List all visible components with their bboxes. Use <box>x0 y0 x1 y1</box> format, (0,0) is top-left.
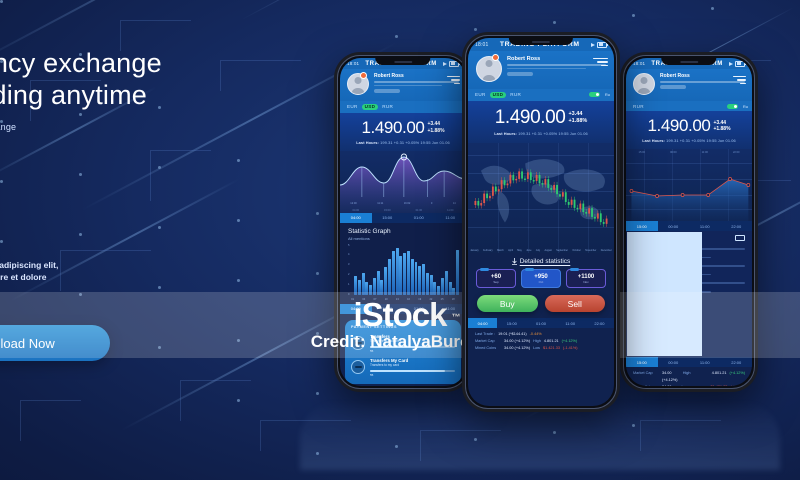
menu-icon[interactable] <box>593 58 608 68</box>
bar <box>452 288 455 295</box>
user-tag <box>374 89 400 93</box>
last-hours-label: Last Hours: <box>642 138 665 143</box>
payment-row-name: Transfers <box>370 334 455 339</box>
bar <box>449 282 452 295</box>
stat-key2: Low <box>533 345 540 352</box>
time-tab[interactable]: 15:00 <box>626 357 658 367</box>
statistic-graph-subtitle: All mentions <box>340 235 466 244</box>
language-label: Ru <box>605 92 610 97</box>
stat-key: Market Cap <box>475 338 501 345</box>
card-pill <box>525 268 534 271</box>
y-tick: 3 <box>348 263 349 266</box>
month-tick: May <box>517 249 522 252</box>
time-axis-bar-top[interactable]: 04:00 15:00 01:00 11:00 <box>340 213 466 223</box>
signal-icon <box>591 43 595 47</box>
stat-value: 34.00 (+4.12%) <box>662 384 679 386</box>
time-label: 22:00 <box>733 151 740 154</box>
time-tab[interactable]: 01:00 <box>403 304 435 314</box>
payment-row-value: 55 <box>370 349 455 353</box>
stat-change: (-1.41%) <box>563 345 578 352</box>
market-stats: Last Trade : 19:01 (^$144.41) -0.44% Mar… <box>468 328 614 352</box>
notch <box>661 58 716 65</box>
y-tick: 2 <box>348 273 349 276</box>
time-tab[interactable]: 11:00 <box>689 357 721 367</box>
stat-card-value: +1100 <box>569 274 603 280</box>
bar <box>441 278 444 295</box>
rate-line-chart: 15:00 00:00 11:00 22:00 <box>626 149 752 221</box>
stat-change: (+4.12%) <box>729 370 745 377</box>
phone-right-screen: 18:01 TRADING PLATFORM Robert Ross <box>626 58 752 386</box>
poster-canvas: urrency exchange , trading anytime ons f… <box>0 0 800 480</box>
statistic-bar-chart: 543210 01040710131619222528 <box>347 244 459 302</box>
status-icons <box>729 61 745 67</box>
wave-label: 0 <box>431 202 432 205</box>
user-name: Robert Ross <box>507 56 606 62</box>
bar <box>369 285 372 295</box>
time-tab[interactable]: 01:00 <box>403 213 435 223</box>
stat-value2: $1.421.33 <box>711 384 728 386</box>
stat-value: 34.00 (+4.12%) <box>662 370 680 384</box>
month-tick: October <box>572 249 581 252</box>
hero-headline-line2: , trading anytime <box>0 80 274 110</box>
signal-icon <box>443 62 447 66</box>
hero-headline-line1: urrency exchange <box>0 48 274 78</box>
stat-value2: 4.801.21 <box>544 338 559 345</box>
x-tick: 25 <box>441 298 444 301</box>
stat-row: Market Cap 34.00 (+4.12%) High 4.801.21 … <box>475 338 607 345</box>
stat-card-sep[interactable]: +60 Sep <box>476 269 516 289</box>
card-icon <box>351 360 365 374</box>
status-icons <box>443 61 459 67</box>
user-bar: Robert Ross <box>468 51 614 89</box>
last-hours-value: 199.31 +0.31 +0.05% 19:55 Jun 01.06 <box>518 131 588 136</box>
wave-time-labels: 04:00 15:00 01:00 11:00 <box>340 209 466 212</box>
time-label: 01:00 <box>416 209 423 212</box>
bar <box>415 262 418 294</box>
notch <box>375 58 430 65</box>
time-tab[interactable]: 04:00 <box>340 213 372 223</box>
download-now-button[interactable]: nload Now <box>0 325 110 361</box>
stat-value2: 4.801.21 <box>712 370 727 377</box>
wave-point-labels: 12:00 11:11 16:02 0 14 <box>340 202 466 205</box>
bar <box>384 267 387 294</box>
payment-row-name: Transfers My Card <box>370 358 455 363</box>
stat-value2: $1.421.33 <box>543 345 560 352</box>
time-tab[interactable]: 15:00 <box>626 221 658 231</box>
bar <box>407 251 410 295</box>
menu-icon[interactable] <box>733 76 746 86</box>
stat-card-value: +60 <box>479 274 513 280</box>
x-tick: 16 <box>407 298 410 301</box>
phone-left-bezel: 18:01 TRADING PLATFORM Robert Ross <box>337 55 469 389</box>
stat-key: Mined Coins <box>475 345 501 352</box>
currency-option-usd[interactable]: USD <box>490 92 507 99</box>
month-labels: JanuaryFebruaryMarchAprilMayJuneJulyAugu… <box>468 249 614 252</box>
stat-card-nov[interactable]: +1100 Nov <box>566 269 606 289</box>
y-tick: 0 <box>348 293 349 296</box>
notification-badge <box>492 54 499 61</box>
x-tick: 22 <box>429 298 432 301</box>
bar <box>437 286 440 295</box>
menu-icon[interactable] <box>447 76 460 86</box>
time-axis-bar-bottom[interactable]: 04:00 15:00 01:00 11:00 <box>340 304 466 314</box>
phone-right-bezel: 18:01 TRADING PLATFORM Robert Ross <box>623 55 755 389</box>
detail-list-panel: ph <box>626 231 752 357</box>
time-tab[interactable]: 22:00 <box>721 357 753 367</box>
currency-selector[interactable]: RUR Ru <box>626 101 752 111</box>
stat-change: -0.44% <box>530 331 542 338</box>
currency-option-eur[interactable]: EUR <box>475 92 486 97</box>
time-tab[interactable]: 11:00 <box>556 318 585 328</box>
bar <box>365 282 368 295</box>
time-tab[interactable]: 00:00 <box>658 221 690 231</box>
battery-icon <box>735 61 745 67</box>
hero-copy: urrency exchange , trading anytime ons f… <box>0 48 274 283</box>
battery-icon <box>735 235 745 241</box>
price-delta-pct: +1.88% <box>427 128 444 135</box>
card-pill <box>570 268 579 271</box>
wave-label: 11:11 <box>377 202 383 205</box>
time-label: 11:00 <box>702 151 708 154</box>
y-tick: 1 <box>348 283 349 286</box>
x-tick: 01 <box>351 298 354 301</box>
last-hours-value: 199.31 +0.31 +0.05% 19:55 Jun 01.06 <box>380 140 450 145</box>
payment-settings-title: PAYMENT SETTINGS <box>351 325 455 329</box>
time-axis-bar-bottom[interactable]: 15:00 00:00 11:00 22:00 <box>626 357 752 367</box>
month-tick: June <box>526 249 531 252</box>
time-axis-bar-top[interactable]: 15:00 00:00 11:00 22:00 <box>626 221 752 231</box>
x-tick: 07 <box>374 298 377 301</box>
payment-row-sub: Transfers to account <box>370 339 455 343</box>
stat-key: Market Cap <box>633 370 659 377</box>
stat-change: (+4.12%) <box>562 338 578 345</box>
currency-selector[interactable]: EUR USD RUR <box>340 101 466 113</box>
price-value: 1.490.00 <box>495 107 566 129</box>
sell-button[interactable]: Sell <box>545 295 606 312</box>
battery-icon <box>597 42 607 48</box>
price-panel: 1.490.00 +3.44 +1.88% Last Hours: 199.31… <box>340 113 466 151</box>
x-tick: 13 <box>396 298 399 301</box>
wave-label: 14 <box>453 202 456 205</box>
payment-row-transfers-my-card[interactable]: Transfers My Card Transfers to my card 5… <box>351 358 455 377</box>
bar <box>388 259 391 294</box>
month-tick: July <box>536 249 540 252</box>
user-meta-line <box>507 68 586 70</box>
stat-card-month: Oct <box>524 280 558 284</box>
stat-row: Last Trade : 19:01 (^$144.41) -0.44% <box>475 331 607 338</box>
phone-center: 18:01 TRADING PLATFORM Robert Ross <box>462 32 620 412</box>
currency-option-rur[interactable]: RUR <box>633 104 644 109</box>
time-axis-bar[interactable]: 04:00 15:00 01:00 11:00 22:00 <box>468 318 614 328</box>
x-tick: 19 <box>418 298 421 301</box>
time-tab[interactable]: 01:00 <box>526 318 555 328</box>
hero-heading2: I/UX <box>0 192 274 218</box>
payment-settings-panel: PAYMENT SETTINGS Transfers Transfers to … <box>345 320 461 384</box>
wave-chart: 12:00 11:11 16:02 0 14 04:00 15:00 01:00… <box>340 151 466 213</box>
payment-row-transfers[interactable]: Transfers Transfers to account 55 <box>351 334 455 353</box>
buy-button[interactable]: Buy <box>477 295 538 312</box>
bar <box>358 280 361 295</box>
price-value: 1.490.00 <box>647 116 710 136</box>
y-tick: 4 <box>348 253 349 256</box>
currency-option-rur[interactable]: RUR <box>510 92 521 97</box>
time-label: 11:00 <box>447 209 453 212</box>
time-label: 15:00 <box>639 151 646 154</box>
candlestick-chart: JanuaryFebruaryMarchAprilMayJuneJulyAugu… <box>468 143 614 253</box>
phone-center-bezel: 18:01 TRADING PLATFORM Robert Ross <box>465 35 617 409</box>
bar <box>362 273 365 295</box>
market-stats: Market Cap 34.00 (+4.12%) High 4.801.21 … <box>626 367 752 386</box>
phone-right: 18:01 TRADING PLATFORM Robert Ross <box>620 52 758 392</box>
time-tab[interactable]: 15:00 <box>372 304 404 314</box>
download-arrow-icon <box>512 258 517 265</box>
avatar[interactable] <box>633 73 655 95</box>
stat-key: Last Trade : <box>475 331 495 338</box>
bar-chart-x-labels: 01040710131619222528 <box>347 298 459 301</box>
wave-label: 12:00 <box>350 202 357 205</box>
bar <box>445 271 448 295</box>
x-tick: 04 <box>362 298 365 301</box>
month-tick: January <box>470 249 479 252</box>
phone-left: 18:01 TRADING PLATFORM Robert Ross <box>334 52 472 392</box>
rate-chart-top-labels: 15:00 00:00 11:00 22:00 <box>626 151 752 154</box>
hero-subline: ons for exchange <box>0 122 274 132</box>
language-toggle[interactable] <box>727 104 738 109</box>
status-icons <box>591 42 607 48</box>
bar-chart-y-labels: 543210 <box>348 244 349 296</box>
wave-label: 16:02 <box>404 202 411 205</box>
user-meta-line <box>507 64 606 66</box>
avatar[interactable] <box>476 56 502 82</box>
payment-row-sub: Transfers to my card <box>370 363 455 367</box>
time-tab[interactable]: 04:00 <box>340 304 372 314</box>
month-tick: August <box>544 249 551 252</box>
status-time: 18:01 <box>633 61 645 66</box>
detailed-statistics-header[interactable]: Detailed statistics <box>468 253 614 269</box>
hero-lorem-line1: , consectetur adipiscing elit, <box>0 259 274 271</box>
status-time: 18:01 <box>475 42 489 48</box>
payment-row-value: 55 <box>370 373 455 377</box>
last-hours-label: Last Hours: <box>494 131 517 136</box>
month-tick: April <box>508 249 513 252</box>
detailed-statistics-title: Detailed statistics <box>520 258 571 265</box>
stat-row: Market Cap 34.00 (+4.12%) High 4.801.21 … <box>633 370 745 384</box>
time-tab[interactable]: 04:00 <box>468 318 497 328</box>
transfers-slider[interactable] <box>370 346 455 348</box>
stat-key2: High <box>683 370 709 377</box>
bar <box>403 253 406 294</box>
time-label: 15:00 <box>384 209 391 212</box>
stat-card-value: +950 <box>524 274 558 280</box>
bar <box>377 271 380 295</box>
currency-option-usd[interactable]: USD <box>362 104 379 111</box>
bar-chart-bars <box>354 246 459 295</box>
time-tab[interactable]: 00:00 <box>658 357 690 367</box>
time-label: 04:00 <box>353 209 360 212</box>
phone-left-screen: 18:01 TRADING PLATFORM Robert Ross <box>340 58 466 386</box>
month-tick: September <box>556 249 568 252</box>
trade-actions: Buy Sell <box>468 288 614 318</box>
y-tick: 5 <box>348 244 349 247</box>
notification-badge <box>360 72 367 79</box>
time-tab[interactable]: 11:00 <box>689 221 721 231</box>
x-tick: 28 <box>452 298 455 301</box>
notch <box>509 38 573 45</box>
statistics-cards: +60 Sep +950 Oct +1100 Nov <box>468 269 614 289</box>
month-tick: December <box>601 249 612 252</box>
transfers-card-slider[interactable] <box>370 370 455 372</box>
hero-heading2-sub: Mobile App <box>0 219 274 231</box>
bar <box>399 256 402 294</box>
battery-icon <box>449 61 459 67</box>
bar <box>456 250 459 295</box>
bar <box>433 282 436 295</box>
status-time: 18:01 <box>347 61 359 66</box>
bar <box>430 275 433 295</box>
bar <box>396 248 399 295</box>
user-bar: Robert Ross <box>626 69 752 101</box>
time-tab[interactable]: 15:00 <box>372 213 404 223</box>
language-label: Ru <box>743 104 748 109</box>
phone-center-screen: 18:01 TRADING PLATFORM Robert Ross <box>468 38 614 406</box>
time-label: 00:00 <box>670 151 677 154</box>
last-hours-label: Last Hours: <box>356 140 379 145</box>
currency-selector[interactable]: EUR USD RUR Ru <box>468 89 614 101</box>
bar <box>392 251 395 294</box>
language-toggle[interactable] <box>589 92 600 97</box>
price-value: 1.490.00 <box>361 118 424 138</box>
stat-key: Mined Coins <box>633 384 659 386</box>
bar <box>380 280 383 295</box>
month-tick: November <box>585 249 596 252</box>
time-tab[interactable]: 15:00 <box>497 318 526 328</box>
bar <box>354 276 357 295</box>
month-tick: February <box>483 249 493 252</box>
stat-key2: High <box>533 338 541 345</box>
time-tab[interactable]: 22:00 <box>585 318 614 328</box>
price-delta-pct: +1.88% <box>568 118 587 125</box>
signal-icon <box>729 62 733 66</box>
stat-row: Mined Coins 34.00 (+4.12%) Low $1.421.33… <box>633 384 745 386</box>
bar <box>422 264 425 294</box>
stat-card-month: Sep <box>479 280 513 284</box>
month-tick: March <box>497 249 504 252</box>
currency-option-eur[interactable]: EUR <box>347 104 358 109</box>
stat-value: 19:01 (^$144.41) <box>498 331 527 338</box>
hero-lorem-line2: didunt ut labore et dolore <box>0 271 274 283</box>
currency-option-rur[interactable]: RUR <box>382 104 393 109</box>
stat-key2: Low <box>682 384 708 386</box>
user-tag <box>660 85 686 89</box>
user-tag <box>507 72 533 76</box>
user-meta-line <box>374 85 442 87</box>
bar <box>426 273 429 295</box>
price-delta-pct: +1.88% <box>713 126 730 133</box>
user-bar: Robert Ross <box>340 69 466 101</box>
stat-card-oct[interactable]: +950 Oct <box>521 269 561 289</box>
card-pill <box>480 268 489 271</box>
stat-row: Mined Coins 34.00 (+4.12%) Low $1.421.33… <box>475 345 607 352</box>
stat-value: 34.00 (+4.12%) <box>504 345 530 352</box>
bar <box>411 259 414 294</box>
stat-value: 34.00 (+4.12%) <box>504 338 530 345</box>
price-panel: 1.490.00 +3.44 +1.88% Last Hours: 199.31… <box>468 101 614 143</box>
stat-change: (-1.41%) <box>730 384 745 386</box>
last-hours-value: 199.31 +0.31 +0.05% 19:55 Jun 01.06 <box>666 138 736 143</box>
stat-card-month: Nov <box>569 280 603 284</box>
bar <box>373 278 376 295</box>
transfer-icon <box>351 336 365 350</box>
x-tick: 10 <box>385 298 388 301</box>
statistic-graph-title: Statistic Graph <box>340 223 466 235</box>
bar <box>418 266 421 294</box>
time-tab[interactable]: 22:00 <box>721 221 753 231</box>
price-panel: 1.490.00 +3.44 +1.88% Last Hours: 199.31… <box>626 111 752 149</box>
